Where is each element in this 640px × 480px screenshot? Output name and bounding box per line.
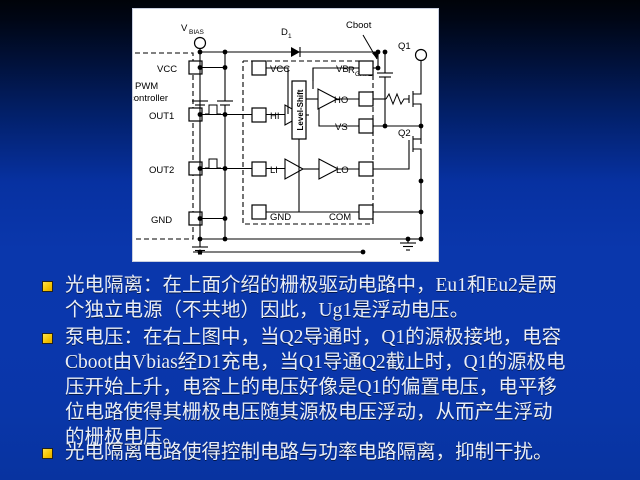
label-d1-subscript: 1 [288,33,292,40]
pad-gnd-ic [252,205,266,219]
pad-vs [359,119,373,133]
junction-dot [223,65,228,70]
bullet-text-isolation-suppress: 光电隔离电路使得控制电路与功率电路隔离，抑制干扰。 [65,440,553,466]
q1-source-wire [413,104,421,126]
junction-dot [376,66,381,71]
label-out2: OUT2 [149,165,174,176]
pad-vb [359,61,373,75]
junction-dot [223,112,228,117]
pad-li [252,162,266,176]
junction-dot [198,250,203,255]
label-lo: LO [336,165,349,176]
pad-lo [359,162,373,176]
vbias-source-symbol [195,38,206,49]
bullet-marker-icon [42,333,53,344]
label-level-shift: Level-Shift [296,89,305,130]
junction-dot [198,50,203,55]
label-com: COM [329,212,351,223]
label-cboot: Cboot [346,20,372,31]
q2-source-wire [413,149,421,181]
junction-dot [198,65,203,70]
label-vb: VB [336,64,349,75]
junction-dot [383,124,388,129]
label-li: LI [270,165,278,176]
label-q1: Q1 [398,41,411,52]
junction-dot [198,166,203,171]
junction-dot [223,50,228,55]
bullet-photo-isolation: 光电隔离：在上面介绍的栅极驱动电路中，Eu1和Eu2是两 个独立电源（不共地）因… [42,273,617,323]
bullet-text-photo-isolation: 光电隔离：在上面介绍的栅极驱动电路中，Eu1和Eu2是两 个独立电源（不共地）因… [65,273,557,323]
driver-ic-boundary [243,61,373,224]
label-q2: Q2 [398,128,411,139]
junction-dot [198,216,203,221]
bullet-marker-icon [42,281,53,292]
junction-dot [361,250,366,255]
junction-dot [198,112,203,117]
label-vcc-ic: VCC [270,64,290,75]
pad-ho [359,92,373,106]
bullet-pump-voltage: 泵电压：在右上图中，当Q2导通时，Q1的源极接地，电容 Cboot由Vbias经… [42,325,617,450]
junction-dot [383,50,388,55]
out1-pulse-waveform [205,105,221,114]
label-vcc-left: VCC [157,64,177,75]
d1-diode-triangle [291,47,300,57]
label-ho: HO [334,95,348,106]
label-pwm-line2: controller [133,93,168,104]
junction-dot [223,237,228,242]
junction-dot [419,210,424,215]
label-vbias: V [181,23,188,34]
label-vbias-subscript: BIAS [189,29,204,36]
slide: V BIAS D 1 Cboot Q1 R GATE Q2 VCC PWM co… [0,0,640,480]
pad-com [359,205,373,219]
label-vs: VS [335,122,348,133]
li-buffer-symbol [285,159,303,179]
label-gnd-left: GND [151,215,172,226]
pad-hi [252,108,266,122]
rgate-resistor-symbol [386,94,409,104]
label-d1: D [281,27,288,38]
bullet-marker-icon [42,448,53,459]
pad-vcc-ic [252,61,266,75]
out2-pulse-waveform [205,159,221,168]
bullet-isolation-suppress: 光电隔离电路使得控制电路与功率电路隔离，抑制干扰。 [42,440,617,466]
label-hi: HI [270,111,280,122]
circuit-diagram-image: V BIAS D 1 Cboot Q1 R GATE Q2 VCC PWM co… [133,9,438,261]
label-gnd-ic: GND [270,212,291,223]
q1-drain-wire [413,61,421,94]
q1-drain-terminal [416,50,427,61]
label-out1: OUT1 [149,111,174,122]
junction-dot [223,166,228,171]
junction-dot [223,216,228,221]
lo-to-q2-gate-wire [373,148,409,169]
label-rgate: R [348,65,355,76]
label-pwm-line1: PWM [135,81,158,92]
bullet-text-pump-voltage: 泵电压：在右上图中，当Q2导通时，Q1的源极接地，电容 Cboot由Vbias经… [65,325,566,450]
